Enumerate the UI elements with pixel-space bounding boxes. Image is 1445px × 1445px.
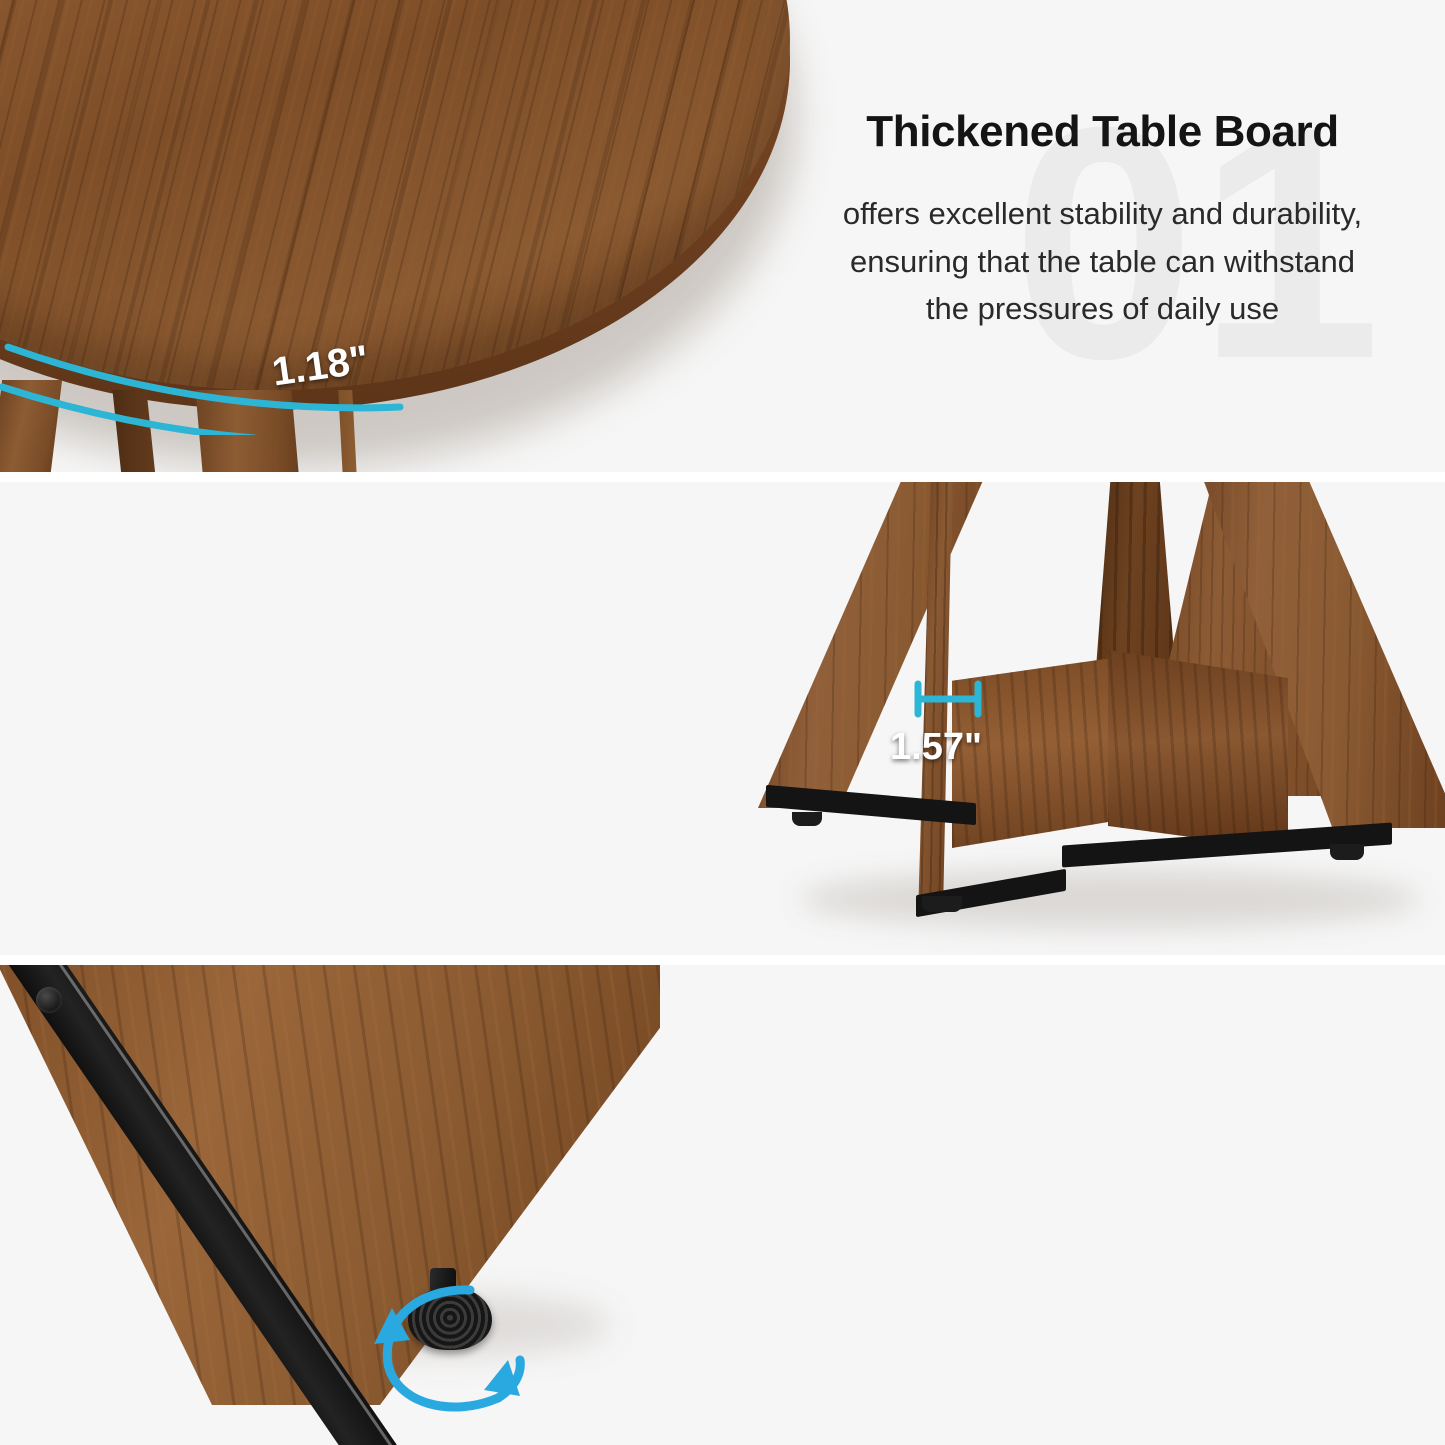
product-infographic: 1.18" 01 Thickened Table Board offers ex… bbox=[0, 0, 1445, 1445]
feature-text-01: Thickened Table Board offers excellent s… bbox=[775, 108, 1430, 332]
foot-pad-rotation-arrows bbox=[348, 1268, 568, 1428]
base-thickness-dimension-label: 1.57" bbox=[890, 726, 982, 769]
base-shadow bbox=[800, 870, 1420, 928]
base-thickness-bracket bbox=[912, 680, 990, 720]
feature-title-01: Thickened Table Board bbox=[775, 108, 1430, 156]
base-cross-rail-right bbox=[1108, 650, 1288, 850]
feature-panel-01: 1.18" 01 Thickened Table Board offers ex… bbox=[0, 0, 1445, 472]
table-base-photo: 1.57" bbox=[740, 482, 1445, 955]
panel-divider bbox=[0, 955, 1445, 965]
base-foot-pad-front bbox=[922, 896, 962, 912]
panel-divider bbox=[0, 472, 1445, 482]
leg-screw-icon bbox=[36, 987, 62, 1013]
feature-description-01: offers excellent stability and durabilit… bbox=[775, 190, 1430, 331]
desc-line: offers excellent stability and durabilit… bbox=[775, 190, 1430, 237]
base-foot-pad-left bbox=[792, 812, 822, 826]
desc-line: ensuring that the table can withstand bbox=[775, 238, 1430, 285]
table-leg bbox=[0, 380, 62, 472]
desc-line: the pressures of daily use bbox=[775, 285, 1430, 332]
base-foot-pad-right bbox=[1330, 844, 1364, 860]
table-top-photo bbox=[0, 0, 820, 472]
